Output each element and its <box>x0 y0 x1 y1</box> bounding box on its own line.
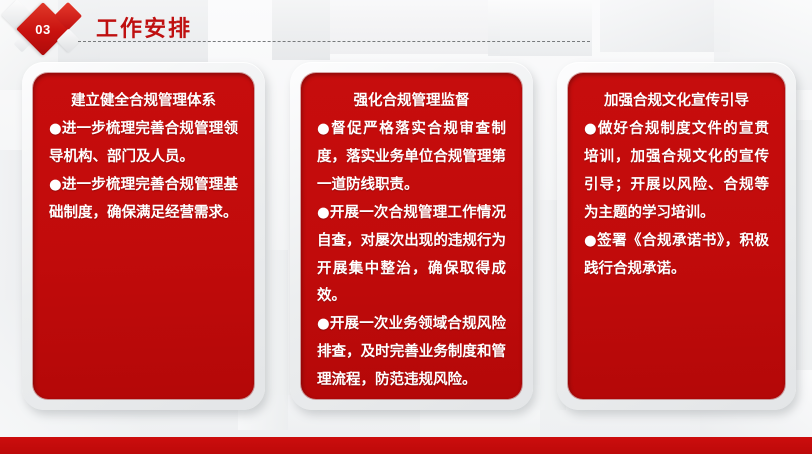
card-3-title: 加强合规文化宣传引导 <box>584 90 769 112</box>
content-card-2-panel: 强化合规管理监督 ●督促严格落实合规审查制度，落实业务单位合规管理第一道防线职责… <box>301 73 522 399</box>
card-1-bullet-2: ●进一步梳理完善合规管理基础制度，确保满足经营需求。 <box>49 172 238 228</box>
card-1-bullet-1: ●进一步梳理完善合规管理领导机构、部门及人员。 <box>49 116 238 172</box>
diamond-badge-icon: 03 <box>8 2 86 56</box>
slide-canvas: 03 工作安排 建立健全合规管理体系 ●进一步梳理完善合规管理领导机构、部门及人… <box>0 0 812 454</box>
content-card-3: 加强合规文化宣传引导 ●做好合规制度文件的宣贯培训，加强合规文化的宣传引导；开展… <box>557 62 796 410</box>
card-3-bullet-2: ●签署《合规承诺书》，积极践行合规承诺。 <box>584 228 769 284</box>
content-card-3-panel: 加强合规文化宣传引导 ●做好合规制度文件的宣贯培训，加强合规文化的宣传引导；开展… <box>568 73 785 399</box>
card-1-title: 建立健全合规管理体系 <box>49 90 238 112</box>
footer-bar <box>0 437 812 454</box>
header-divider <box>78 41 590 42</box>
page-title: 工作安排 <box>96 11 192 43</box>
card-2-bullet-3: ●开展一次业务领域合规风险排查，及时完善业务制度和管理流程，防范违规风险。 <box>317 311 506 394</box>
card-3-body: ●做好合规制度文件的宣贯培训，加强合规文化的宣传引导；开展以风险、合规等为主题的… <box>584 116 769 283</box>
card-2-bullet-2: ●开展一次合规管理工作情况自查，对屡次出现的违规行为开展集中整治，确保取得成效。 <box>317 200 506 311</box>
content-card-1-panel: 建立健全合规管理体系 ●进一步梳理完善合规管理领导机构、部门及人员。 ●进一步梳… <box>33 73 254 399</box>
card-2-bullet-1: ●督促严格落实合规审查制度，落实业务单位合规管理第一道防线职责。 <box>317 116 506 199</box>
card-2-title: 强化合规管理监督 <box>317 90 506 112</box>
card-3-bullet-1: ●做好合规制度文件的宣贯培训，加强合规文化的宣传引导；开展以风险、合规等为主题的… <box>584 116 769 227</box>
section-number: 03 <box>24 10 62 48</box>
content-card-2: 强化合规管理监督 ●督促严格落实合规审查制度，落实业务单位合规管理第一道防线职责… <box>290 62 533 410</box>
content-card-1: 建立健全合规管理体系 ●进一步梳理完善合规管理领导机构、部门及人员。 ●进一步梳… <box>22 62 265 410</box>
slide-header: 03 工作安排 <box>0 0 812 56</box>
card-1-body: ●进一步梳理完善合规管理领导机构、部门及人员。 ●进一步梳理完善合规管理基础制度… <box>49 116 238 227</box>
card-2-body: ●督促严格落实合规审查制度，落实业务单位合规管理第一道防线职责。 ●开展一次合规… <box>317 116 506 394</box>
